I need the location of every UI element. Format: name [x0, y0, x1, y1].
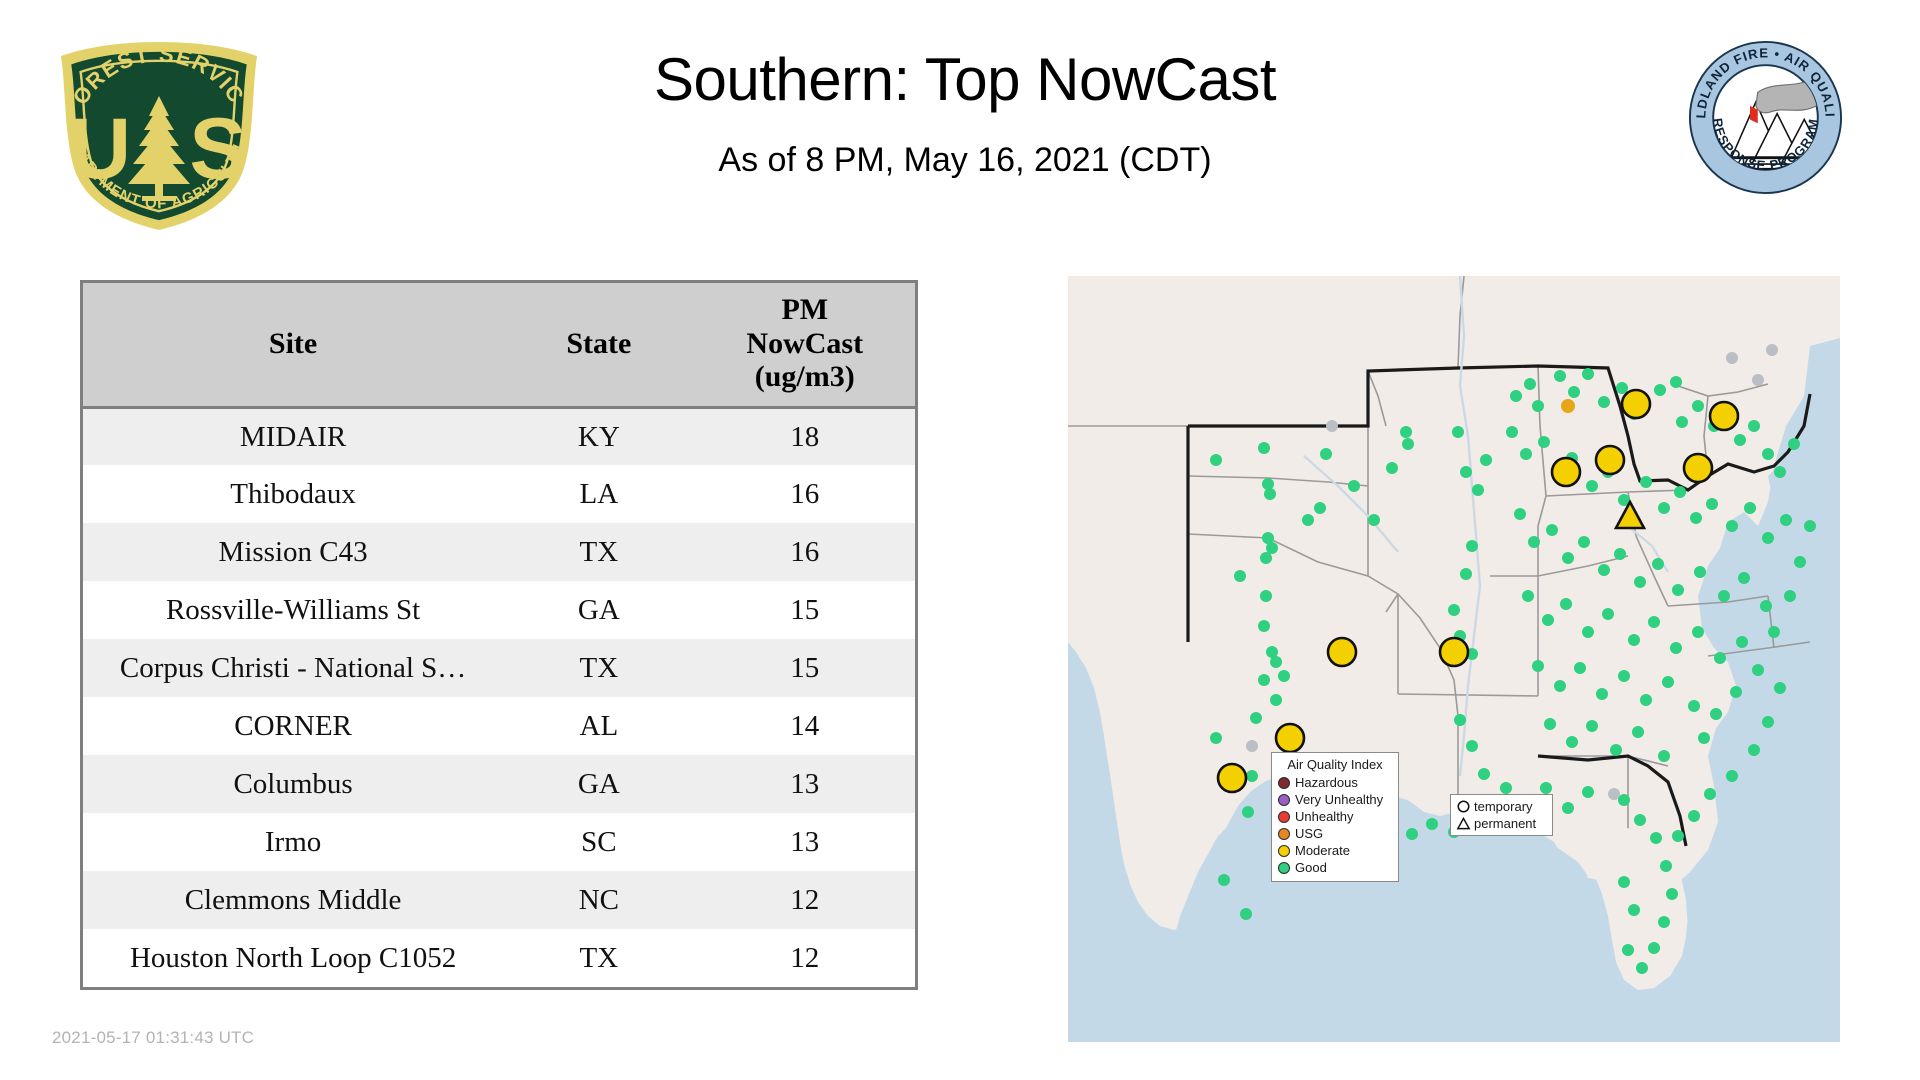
- state-cell: TX: [503, 639, 694, 697]
- site-cell: Corpus Christi - National S…: [83, 639, 503, 697]
- table-row: Clemmons MiddleNC12: [83, 871, 915, 929]
- site-cell: Irmo: [83, 813, 503, 871]
- aqi-legend-swatch: [1278, 794, 1290, 806]
- monitor-map-panel[interactable]: Air Quality Index HazardousVery Unhealth…: [1068, 276, 1840, 1042]
- nowcast-table-body: MIDAIRKY18ThibodauxLA16Mission C43TX16Ro…: [83, 407, 915, 987]
- site-cell: MIDAIR: [83, 407, 503, 465]
- table-row: ColumbusGA13: [83, 755, 915, 813]
- permanent-triangle-icon: [1456, 816, 1471, 831]
- column-header-state: State: [503, 283, 694, 407]
- table-row: ThibodauxLA16: [83, 465, 915, 523]
- table-header-row: Site State PM NowCast (ug/m3): [83, 283, 915, 407]
- aqi-legend-row: Hazardous: [1278, 774, 1392, 791]
- aqi-legend-row: Very Unhealthy: [1278, 791, 1392, 808]
- symbol-legend-label-permanent: permanent: [1474, 817, 1536, 830]
- state-cell: SC: [503, 813, 694, 871]
- wildland-fire-air-quality-seal-logo: WILDLAND FIRE • AIR QUALITY RESPONSE PRO…: [1688, 40, 1843, 195]
- aqi-legend-row: Unhealthy: [1278, 808, 1392, 825]
- value-cell: 15: [695, 639, 915, 697]
- state-cell: NC: [503, 871, 694, 929]
- site-cell: Houston North Loop C1052: [83, 929, 503, 987]
- column-header-site: Site: [83, 283, 503, 407]
- site-cell: Mission C43: [83, 523, 503, 581]
- value-cell: 16: [695, 465, 915, 523]
- pm-nowcast-line-2: NowCast: [699, 327, 911, 361]
- pm-nowcast-line-1: PM: [699, 293, 911, 327]
- generated-timestamp: 2021-05-17 01:31:43 UTC: [52, 1028, 254, 1048]
- aqi-legend-label: Hazardous: [1295, 776, 1358, 789]
- table-row: Mission C43TX16: [83, 523, 915, 581]
- map-canvas[interactable]: [1068, 276, 1840, 1042]
- aqi-legend-title: Air Quality Index: [1278, 757, 1392, 772]
- site-cell: Columbus: [83, 755, 503, 813]
- aqi-legend-label: Very Unhealthy: [1295, 793, 1383, 806]
- value-cell: 12: [695, 871, 915, 929]
- state-cell: AL: [503, 697, 694, 755]
- value-cell: 13: [695, 755, 915, 813]
- aqi-legend-label: USG: [1295, 827, 1323, 840]
- aqi-legend-row: Moderate: [1278, 842, 1392, 859]
- value-cell: 12: [695, 929, 915, 987]
- aqi-legend-swatch: [1278, 828, 1290, 840]
- aqi-legend-rows: HazardousVery UnhealthyUnhealthyUSGModer…: [1278, 774, 1392, 876]
- aqi-legend-label: Good: [1295, 861, 1327, 874]
- map-markers-usg: [1561, 399, 1575, 413]
- page-subtitle: As of 8 PM, May 16, 2021 (CDT): [300, 141, 1630, 180]
- value-cell: 15: [695, 581, 915, 639]
- table-row: CORNERAL14: [83, 697, 915, 755]
- shield-letter-s: S: [189, 101, 246, 197]
- site-cell: Thibodaux: [83, 465, 503, 523]
- table-row: Rossville-Williams StGA15: [83, 581, 915, 639]
- table-row: Houston North Loop C1052TX12: [83, 929, 915, 987]
- nowcast-table-container: Site State PM NowCast (ug/m3) MIDAIRKY18…: [80, 280, 918, 990]
- value-cell: 16: [695, 523, 915, 581]
- symbol-legend-label-temporary: temporary: [1474, 800, 1533, 813]
- state-cell: TX: [503, 523, 694, 581]
- site-cell: CORNER: [83, 697, 503, 755]
- symbol-legend: temporary permanent: [1450, 794, 1553, 836]
- aqi-legend: Air Quality Index HazardousVery Unhealth…: [1271, 752, 1399, 882]
- state-cell: KY: [503, 407, 694, 465]
- aqi-legend-label: Unhealthy: [1295, 810, 1354, 823]
- state-cell: LA: [503, 465, 694, 523]
- aqi-legend-swatch: [1278, 862, 1290, 874]
- aqi-legend-swatch: [1278, 811, 1290, 823]
- site-cell: Clemmons Middle: [83, 871, 503, 929]
- state-cell: GA: [503, 755, 694, 813]
- column-header-pm-nowcast: PM NowCast (ug/m3): [695, 283, 915, 407]
- symbol-legend-row-permanent: permanent: [1456, 815, 1547, 832]
- aqi-legend-swatch: [1278, 777, 1290, 789]
- aqi-legend-label: Moderate: [1295, 844, 1350, 857]
- table-row: Corpus Christi - National S…TX15: [83, 639, 915, 697]
- value-cell: 13: [695, 813, 915, 871]
- title-block: Southern: Top NowCast As of 8 PM, May 16…: [300, 48, 1630, 180]
- nowcast-table: Site State PM NowCast (ug/m3) MIDAIRKY18…: [83, 283, 915, 987]
- table-row: IrmoSC13: [83, 813, 915, 871]
- temporary-circle-icon: [1456, 799, 1471, 814]
- state-cell: TX: [503, 929, 694, 987]
- value-cell: 14: [695, 697, 915, 755]
- aqi-legend-row: Good: [1278, 859, 1392, 876]
- state-cell: GA: [503, 581, 694, 639]
- aqi-legend-row: USG: [1278, 825, 1392, 842]
- page-title: Southern: Top NowCast: [300, 48, 1630, 111]
- shield-letter-u: U: [69, 101, 131, 197]
- site-cell: Rossville-Williams St: [83, 581, 503, 639]
- table-row: MIDAIRKY18: [83, 407, 915, 465]
- aqi-legend-swatch: [1278, 845, 1290, 857]
- symbol-legend-row-temporary: temporary: [1456, 798, 1547, 815]
- pm-nowcast-line-3: (ug/m3): [699, 360, 911, 394]
- us-forest-service-shield-logo: FOREST SERVICE DEPARTMENT OF AGRICULTURE…: [52, 38, 267, 233]
- value-cell: 18: [695, 407, 915, 465]
